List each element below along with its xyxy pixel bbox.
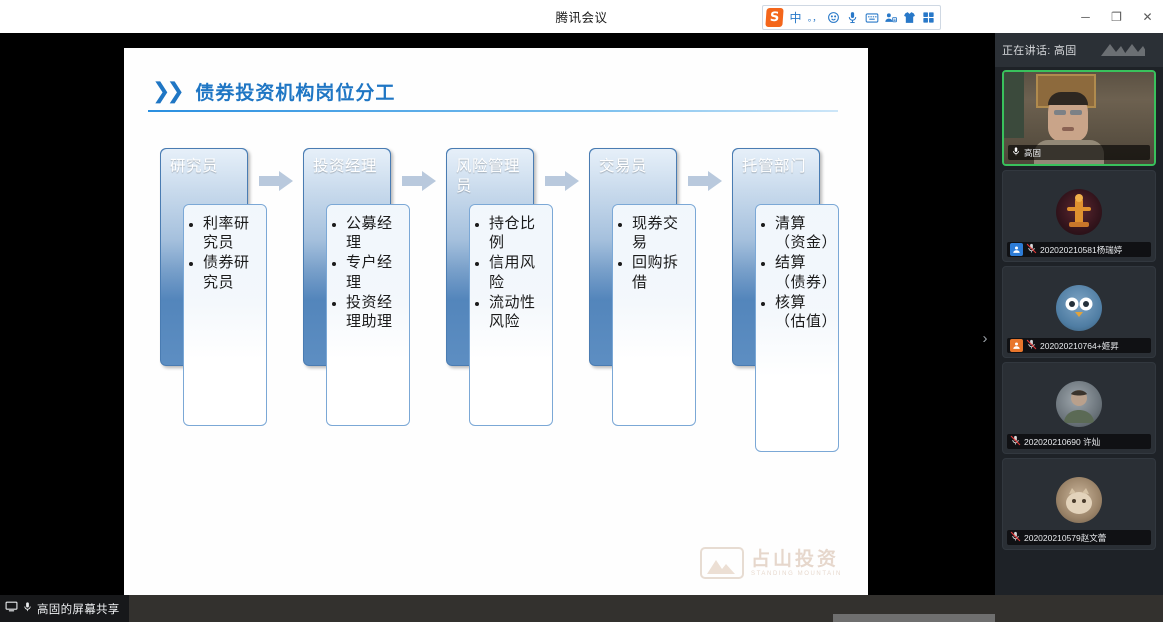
- microphone-on-icon: [1011, 146, 1021, 159]
- flow-arrow-icon: [259, 170, 295, 192]
- participant-name: 高固: [1024, 147, 1041, 159]
- participant-tile-jisheng[interactable]: 202020210764+姬昇: [1002, 266, 1156, 358]
- mountain-icon: [700, 547, 744, 579]
- shared-screen-stage: ❯❯ 债券投资机构岗位分工 研究员 利率研究员 债券研究员: [0, 33, 1163, 622]
- collapse-panel-chevron-icon[interactable]: ›: [977, 324, 993, 352]
- active-speaker-banner: 正在讲话: 高固: [995, 33, 1163, 67]
- participant-tile-yangruiting[interactable]: 202020210581杨瑞婷: [1002, 170, 1156, 262]
- microphone-icon[interactable]: [843, 8, 862, 28]
- keyboard-icon[interactable]: [862, 8, 881, 28]
- shirt-icon[interactable]: [900, 8, 919, 28]
- flow-node-researcher: 研究员 利率研究员 债券研究员: [160, 148, 248, 366]
- logo-chinese: 占山投资: [751, 550, 842, 569]
- contact-icon[interactable]: [881, 8, 900, 28]
- avatar: [1056, 477, 1102, 523]
- presentation-slide: ❯❯ 债券投资机构岗位分工 研究员 利率研究员 债券研究员: [124, 48, 868, 596]
- user-badge-icon: [1010, 339, 1023, 352]
- flow-arrow-icon: [545, 170, 581, 192]
- list-item: 公募经理: [346, 214, 405, 252]
- participant-name: 202020210764+姬昇: [1040, 340, 1119, 352]
- ime-chinese-mode-icon[interactable]: 中: [786, 8, 805, 28]
- list-item: 信用风险: [489, 253, 548, 291]
- flow-arrow-icon: [688, 170, 724, 192]
- slide-header: ❯❯ 债券投资机构岗位分工: [152, 78, 842, 105]
- list-item: 利率研究员: [203, 214, 262, 252]
- microphone-icon: [22, 600, 33, 618]
- list-item: 债券研究员: [203, 253, 262, 291]
- participant-rail: 正在讲话: 高固: [995, 33, 1163, 622]
- share-bar-tab: [833, 614, 995, 622]
- wechat-icon: [1099, 42, 1145, 65]
- flow-arrow-icon: [402, 170, 438, 192]
- flow-node-body: 持仓比例 信用风险 流动性风险: [469, 204, 553, 426]
- list-item: 结算（债券）: [775, 253, 834, 291]
- title-underline: [148, 110, 838, 112]
- ime-punctuation-label: 。，: [808, 11, 822, 24]
- nameplate: 202020210690 许灿: [1007, 434, 1151, 449]
- list-item: 核算（估值）: [775, 293, 834, 331]
- flow-node-trader: 交易员 现券交易 回购拆借: [589, 148, 677, 366]
- microphone-muted-icon: [1026, 243, 1037, 256]
- nameplate: 高固: [1008, 145, 1150, 160]
- participant-tile-xucan[interactable]: 202020210690 许灿: [1002, 362, 1156, 454]
- window-controls: ─ ❐ ✕: [1070, 0, 1163, 33]
- nameplate: 202020210579赵文蕾: [1007, 530, 1151, 545]
- participant-tile-zhaowenlei[interactable]: 202020210579赵文蕾: [1002, 458, 1156, 550]
- participant-tile-gaogu[interactable]: 高固: [1002, 70, 1156, 166]
- list-item: 流动性风险: [489, 293, 548, 331]
- participant-name: 202020210690 许灿: [1024, 436, 1100, 448]
- title-bar: 腾讯会议 S 中 。，: [0, 0, 1163, 33]
- restore-button[interactable]: ❐: [1101, 0, 1132, 33]
- flow-node-body: 利率研究员 债券研究员: [183, 204, 267, 426]
- microphone-muted-icon: [1010, 435, 1021, 448]
- avatar: [1056, 285, 1102, 331]
- share-label: 高固的屏幕共享: [37, 601, 120, 617]
- flow-node-title: 投资经理: [313, 158, 377, 175]
- company-logo: 占山投资 STANDING MOUNTAIN: [700, 546, 852, 580]
- flow-node-body: 现券交易 回购拆借: [612, 204, 696, 426]
- flow-node-title: 研究员: [170, 158, 218, 175]
- double-chevron-icon: ❯❯: [152, 79, 181, 104]
- logo-text: 占山投资 STANDING MOUNTAIN: [751, 550, 842, 577]
- flow-node-risk-manager: 风险管理员 持仓比例 信用风险 流动性风险: [446, 148, 534, 366]
- flow-diagram: 研究员 利率研究员 债券研究员: [160, 148, 840, 468]
- nameplate: 202020210581杨瑞婷: [1007, 242, 1151, 257]
- microphone-muted-icon: [1010, 531, 1021, 544]
- monitor-icon: [5, 600, 18, 618]
- flow-node-body: 公募经理 专户经理 投资经理助理: [326, 204, 410, 426]
- active-speaker-label: 正在讲话: 高固: [1002, 42, 1077, 58]
- list-item: 专户经理: [346, 253, 405, 291]
- nameplate: 202020210764+姬昇: [1007, 338, 1151, 353]
- sogou-ime-toolbar[interactable]: S 中 。，: [762, 5, 941, 30]
- screen-share-bar: 高固的屏幕共享: [0, 595, 1163, 622]
- emoji-icon[interactable]: [824, 8, 843, 28]
- list-item: 清算（资金）: [775, 214, 834, 252]
- microphone-muted-icon: [1026, 339, 1037, 352]
- minimize-button[interactable]: ─: [1070, 0, 1101, 33]
- avatar: [1056, 189, 1102, 235]
- logo-english: STANDING MOUNTAIN: [751, 571, 842, 577]
- user-badge-icon: [1010, 243, 1023, 256]
- screen-share-indicator[interactable]: 高固的屏幕共享: [0, 595, 129, 622]
- flow-node-title: 风险管理员: [456, 158, 520, 195]
- close-button[interactable]: ✕: [1132, 0, 1163, 33]
- flow-node-title: 交易员: [599, 158, 647, 175]
- list-item: 持仓比例: [489, 214, 548, 252]
- sogou-logo-icon[interactable]: S: [765, 8, 783, 27]
- ime-punctuation-icon[interactable]: 。，: [805, 8, 824, 28]
- flow-node-custody-dept: 托管部门 清算（资金） 结算（债券） 核算（估值）: [732, 148, 820, 366]
- avatar: [1056, 381, 1102, 427]
- flow-node-body: 清算（资金） 结算（债券） 核算（估值）: [755, 204, 839, 452]
- slide-title: 债券投资机构岗位分工: [195, 78, 395, 105]
- flow-node-investment-manager: 投资经理 公募经理 专户经理 投资经理助理: [303, 148, 391, 366]
- meeting-window: 腾讯会议 S 中 。，: [0, 0, 1163, 622]
- window-title: 腾讯会议: [0, 0, 1163, 33]
- participant-name: 202020210581杨瑞婷: [1040, 244, 1122, 256]
- list-item: 回购拆借: [632, 253, 691, 291]
- flow-node-title: 托管部门: [742, 158, 806, 175]
- participant-name: 202020210579赵文蕾: [1024, 532, 1106, 544]
- list-item: 现券交易: [632, 214, 691, 252]
- list-item: 投资经理助理: [346, 293, 405, 331]
- grid-icon[interactable]: [919, 8, 938, 28]
